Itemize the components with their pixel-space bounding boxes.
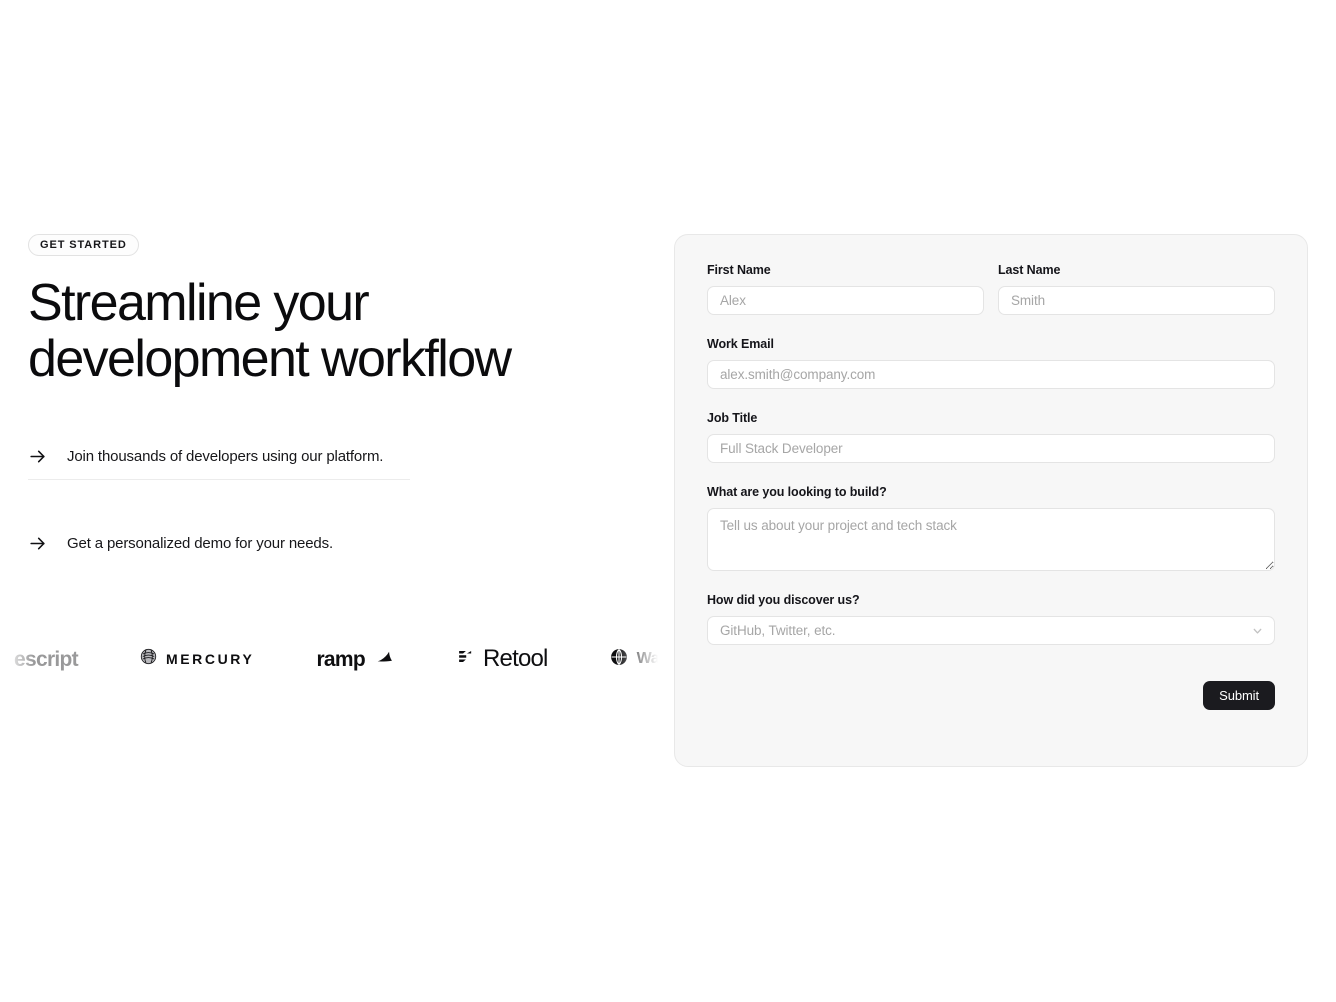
- submit-row: Submit: [707, 681, 1275, 710]
- retool-blocks-icon: [457, 648, 474, 670]
- work-email-field-group: Work Email: [707, 337, 1275, 389]
- hero-section: GET STARTED Streamline your development …: [28, 234, 648, 566]
- discovery-field-group: How did you discover us? GitHub, Twitter…: [707, 593, 1275, 645]
- logo-watershed-wordmark: Watershed: [637, 651, 676, 667]
- submit-button[interactable]: Submit: [1203, 681, 1275, 710]
- discovery-label: How did you discover us?: [707, 593, 1275, 608]
- last-name-label: Last Name: [998, 263, 1275, 278]
- customer-logo-strip: escript MERCURY ramp: [0, 636, 676, 682]
- benefit-item: Join thousands of developers using our p…: [28, 433, 410, 479]
- benefits-divider: [28, 479, 410, 480]
- project-textarea[interactable]: [707, 508, 1275, 571]
- work-email-input[interactable]: [707, 360, 1275, 389]
- name-row: First Name Last Name: [707, 263, 1275, 315]
- job-title-label: Job Title: [707, 411, 1275, 426]
- project-label: What are you looking to build?: [707, 485, 1275, 500]
- first-name-label: First Name: [707, 263, 984, 278]
- watershed-globe-icon: [610, 648, 628, 671]
- page-title: Streamline your development workflow: [28, 276, 548, 387]
- job-title-input[interactable]: [707, 434, 1275, 463]
- logo-retool: Retool: [457, 642, 548, 676]
- get-started-badge: GET STARTED: [28, 234, 139, 256]
- last-name-field-group: Last Name: [998, 263, 1275, 315]
- logo-descript-wordmark: escript: [14, 649, 78, 670]
- first-name-field-group: First Name: [707, 263, 984, 315]
- landing-page: GET STARTED Streamline your development …: [0, 0, 1336, 1002]
- project-field-group: What are you looking to build?: [707, 485, 1275, 571]
- ramp-swoosh-icon: [374, 646, 395, 672]
- logo-ramp: ramp: [316, 642, 395, 676]
- work-email-label: Work Email: [707, 337, 1275, 352]
- logo-ramp-wordmark: ramp: [316, 649, 365, 670]
- logo-mercury: MERCURY: [140, 642, 254, 676]
- job-title-field-group: Job Title: [707, 411, 1275, 463]
- benefit-item: Get a personalized demo for your needs.: [28, 520, 410, 566]
- first-name-input[interactable]: [707, 286, 984, 315]
- logo-track: escript MERCURY ramp: [0, 636, 676, 682]
- benefit-label: Join thousands of developers using our p…: [67, 447, 383, 467]
- logo-descript: escript: [14, 642, 78, 676]
- arrow-right-icon: [28, 534, 47, 553]
- arrow-right-icon: [28, 447, 47, 466]
- discovery-select-wrap: GitHub, Twitter, etc.: [707, 616, 1275, 645]
- discovery-select[interactable]: GitHub, Twitter, etc.: [707, 616, 1275, 645]
- logo-watershed: Watershed: [610, 642, 676, 676]
- benefits-list: Join thousands of developers using our p…: [28, 433, 410, 566]
- logo-retool-wordmark: Retool: [483, 647, 548, 671]
- signup-form-card: First Name Last Name Work Email Job Titl…: [674, 234, 1308, 767]
- benefit-label: Get a personalized demo for your needs.: [67, 534, 333, 554]
- mercury-globe-icon: [140, 648, 157, 670]
- last-name-input[interactable]: [998, 286, 1275, 315]
- logo-mercury-wordmark: MERCURY: [166, 652, 254, 666]
